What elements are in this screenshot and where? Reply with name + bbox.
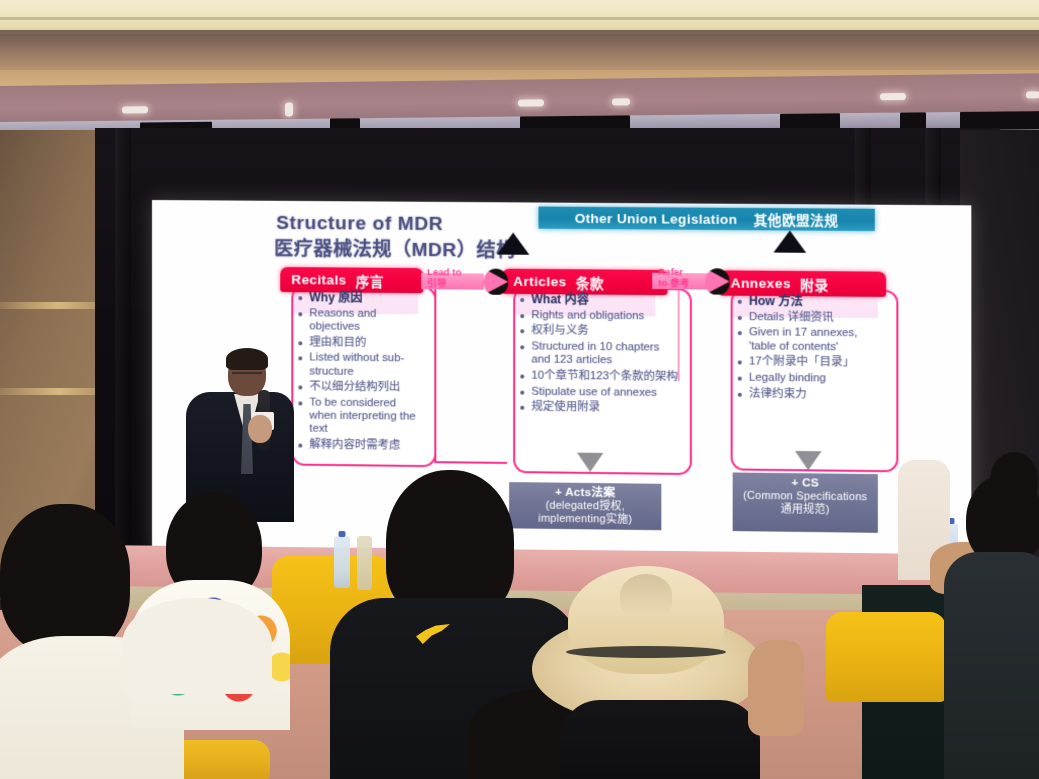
ceiling-cornice bbox=[0, 0, 1039, 34]
juice-bottle bbox=[357, 536, 372, 590]
annexes-header-en: Annexes bbox=[731, 275, 791, 291]
annexes-header-zh: 附录 bbox=[800, 274, 828, 294]
list-item: 规定使用附录 bbox=[518, 401, 680, 416]
attendee-head bbox=[0, 504, 130, 654]
connector-horizontal bbox=[434, 461, 507, 464]
presenter-hand bbox=[248, 415, 272, 443]
annexes-bullet-list: How 方法 Details 详细资讯 Given in 17 annexes,… bbox=[736, 295, 887, 405]
other-union-legislation-banner: Other Union Legislation 其他欧盟法规 bbox=[538, 207, 874, 231]
arrow-label-refer-to: Refer to 参考 bbox=[658, 268, 689, 289]
hat-person-hand bbox=[748, 640, 804, 736]
ceiling-spotlight bbox=[122, 106, 148, 113]
recitals-header-en: Recitals bbox=[291, 272, 346, 287]
arrow-head-icon bbox=[705, 268, 729, 294]
list-item: 权利与义务 bbox=[518, 325, 680, 340]
ceiling-spotlight bbox=[1026, 91, 1039, 98]
ceiling-spotlight bbox=[518, 99, 544, 106]
attendee-head bbox=[386, 470, 514, 618]
cs-box-sub: (Common Specifications 通用规范) bbox=[739, 490, 872, 517]
water-bottle bbox=[334, 536, 350, 588]
oul-label-en: Other Union Legislation bbox=[575, 210, 738, 226]
list-item: 10个章节和123个条款的架构 bbox=[518, 369, 680, 384]
column-annexes: Annexes 附录 How 方法 Details 详细资讯 Given in … bbox=[719, 270, 893, 470]
column-recitals: Recitals 序言 Why 原因 Reasons and objective… bbox=[280, 267, 433, 467]
arrow-lead-to: Lead to 引导 bbox=[421, 268, 508, 295]
column-articles: Articles 条款 What 内容 Rights and obligatio… bbox=[502, 269, 685, 472]
chair bbox=[826, 612, 946, 702]
ceiling-spotlight bbox=[285, 102, 293, 116]
presenter-hair bbox=[226, 348, 268, 370]
list-item: 17个附录中「目录」 bbox=[736, 356, 887, 371]
list-item: How 方法 bbox=[736, 295, 887, 310]
oul-label-zh: 其他欧盟法规 bbox=[754, 209, 839, 230]
list-item: Reasons and objectives bbox=[296, 307, 425, 335]
list-item: Why 原因 bbox=[296, 291, 425, 305]
articles-bullet-list: What 内容 Rights and obligations 权利与义务 Str… bbox=[518, 293, 680, 419]
acts-box-sub: (delegated授权, implementing实施) bbox=[515, 499, 655, 526]
bottle-cap bbox=[339, 531, 346, 537]
annexes-header: Annexes 附录 bbox=[719, 270, 886, 297]
list-item: Structured in 10 chapters and 123 articl… bbox=[518, 340, 680, 368]
cs-box: + CS (Common Specifications 通用规范) bbox=[733, 472, 878, 532]
attendee-body bbox=[944, 552, 1039, 779]
list-item: 不以细分结构列出 bbox=[296, 381, 425, 396]
list-item: Listed without sub-structure bbox=[296, 352, 425, 380]
articles-header-zh: 条款 bbox=[576, 272, 604, 292]
list-item: 理由和目的 bbox=[296, 336, 425, 350]
arrow-head-icon bbox=[484, 269, 508, 295]
attendee-white-top bbox=[122, 598, 272, 694]
up-triangle-icon bbox=[773, 230, 806, 252]
arrow-refer-to: Refer to 参考 bbox=[652, 268, 729, 295]
list-item: What 内容 bbox=[518, 293, 680, 308]
panama-hat-band bbox=[566, 646, 726, 658]
ceiling-spotlight bbox=[612, 98, 630, 105]
acts-box: + Acts法案 (delegated授权, implementing实施) bbox=[509, 482, 661, 530]
recitals-header-zh: 序言 bbox=[356, 270, 384, 290]
up-triangle-icon bbox=[497, 232, 529, 254]
conference-room-photo: Structure of MDR 医疗器械法规（MDR）结构 Other Uni… bbox=[0, 0, 1039, 779]
articles-header: Articles 条款 bbox=[502, 269, 667, 295]
arrow-label-lead-to: Lead to 引导 bbox=[427, 268, 461, 289]
ceiling-spotlight bbox=[880, 93, 906, 100]
articles-header-en: Articles bbox=[513, 274, 566, 290]
slide-title-zh: 医疗器械法规（MDR）结构 bbox=[274, 234, 516, 263]
list-item: Given in 17 annexes, 'table of contents' bbox=[736, 326, 887, 354]
recitals-bullet-list: Why 原因 Reasons and objectives 理由和目的 List… bbox=[296, 291, 425, 456]
slide-title-en: Structure of MDR bbox=[276, 213, 443, 236]
list-item: Details 详细资讯 bbox=[736, 311, 887, 326]
list-item: 法律约束力 bbox=[736, 387, 887, 402]
hat-person-shoulders bbox=[560, 700, 760, 779]
list-item: Rights and obligations bbox=[518, 309, 680, 324]
recitals-header: Recitals 序言 bbox=[280, 267, 423, 293]
list-item: 解释内容时需考虑 bbox=[296, 439, 425, 454]
list-item: Legally binding bbox=[736, 372, 887, 387]
glasses-icon bbox=[232, 372, 262, 381]
list-item: To be considered when interpreting the t… bbox=[296, 396, 425, 437]
list-item: Stipulate use of annexes bbox=[518, 385, 680, 400]
panama-hat-dent bbox=[620, 574, 672, 616]
